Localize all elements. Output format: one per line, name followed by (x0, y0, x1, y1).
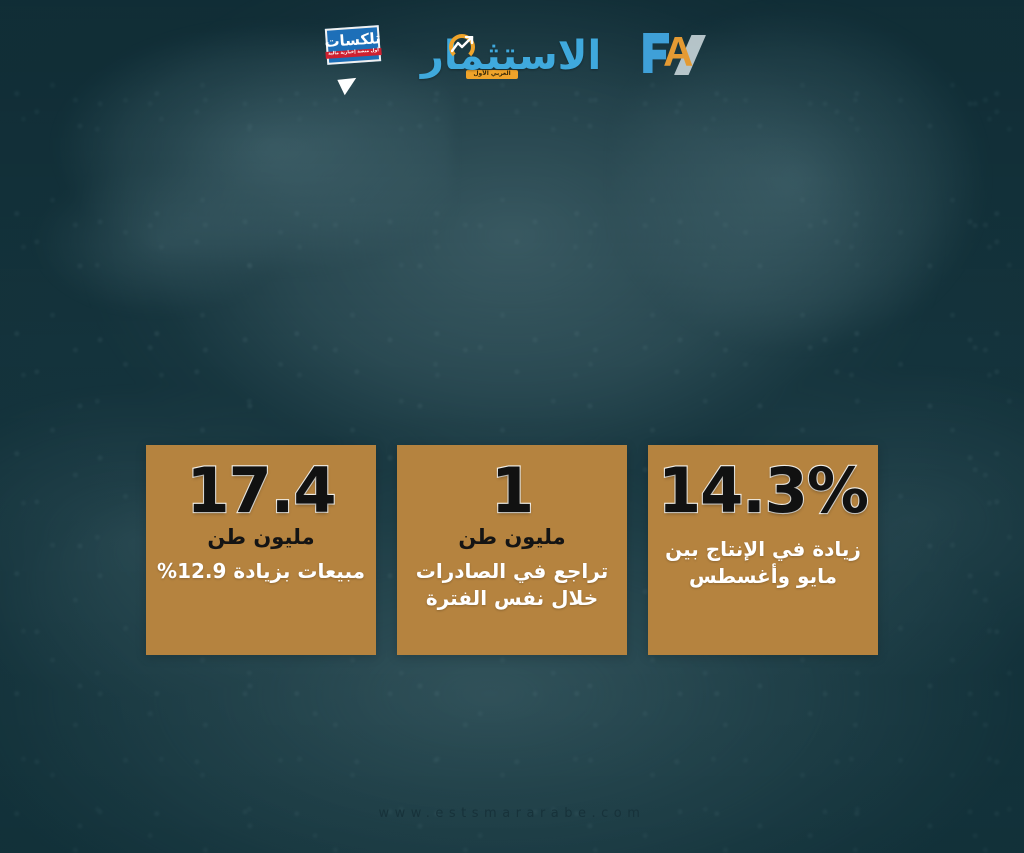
speech-bubble-icon: تلكسات أول منصة إخبارية مالية (325, 25, 381, 65)
alistithmar-wordmark-row: الاستثمار (421, 36, 601, 76)
stat-number: 14.3% (658, 459, 868, 522)
stat-card-exports: 1 مليون طن تراجع في الصادرات خلال نفس ال… (397, 445, 627, 655)
fa-logo[interactable]: A (641, 29, 699, 81)
fa-letter-a: A (663, 32, 693, 74)
stat-card-group: 17.4 مليون طن مبيعات بزيادة 12.9% 1 مليو… (146, 445, 878, 655)
vignette-overlay (0, 0, 1024, 853)
background-photo (0, 0, 1024, 853)
stat-card-production: 14.3% زيادة في الإنتاج بين مايو وأغسطس (648, 445, 878, 655)
stat-description: تراجع في الصادرات خلال نفس الفترة (407, 558, 617, 611)
header-logo-bar: تلكسات أول منصة إخبارية مالية الاستثمار … (0, 0, 1024, 110)
alistithmar-logo[interactable]: الاستثمار العربي الأول (421, 32, 601, 79)
stat-number: 1 (491, 459, 533, 522)
stat-card-sales: 17.4 مليون طن مبيعات بزيادة 12.9% (146, 445, 376, 655)
stat-unit: مليون طن (458, 524, 565, 550)
telexat-logo[interactable]: تلكسات أول منصة إخبارية مالية (325, 27, 381, 83)
infographic-stage: تلكسات أول منصة إخبارية مالية الاستثمار … (0, 0, 1024, 853)
growth-arrow-icon (451, 36, 475, 54)
stat-unit: مليون طن (207, 524, 314, 550)
stat-description: زيادة في الإنتاج بين مايو وأغسطس (658, 536, 868, 589)
website-url[interactable]: www.estsmararabe.com (0, 806, 1024, 821)
stat-number: 17.4 (187, 459, 336, 522)
speech-bubble-tail-icon (337, 78, 356, 96)
telexat-logo-word: تلكسات (324, 31, 381, 50)
stat-description: مبيعات بزيادة 12.9% (157, 558, 365, 584)
alistithmar-logo-word: الاستثمار (421, 36, 601, 76)
